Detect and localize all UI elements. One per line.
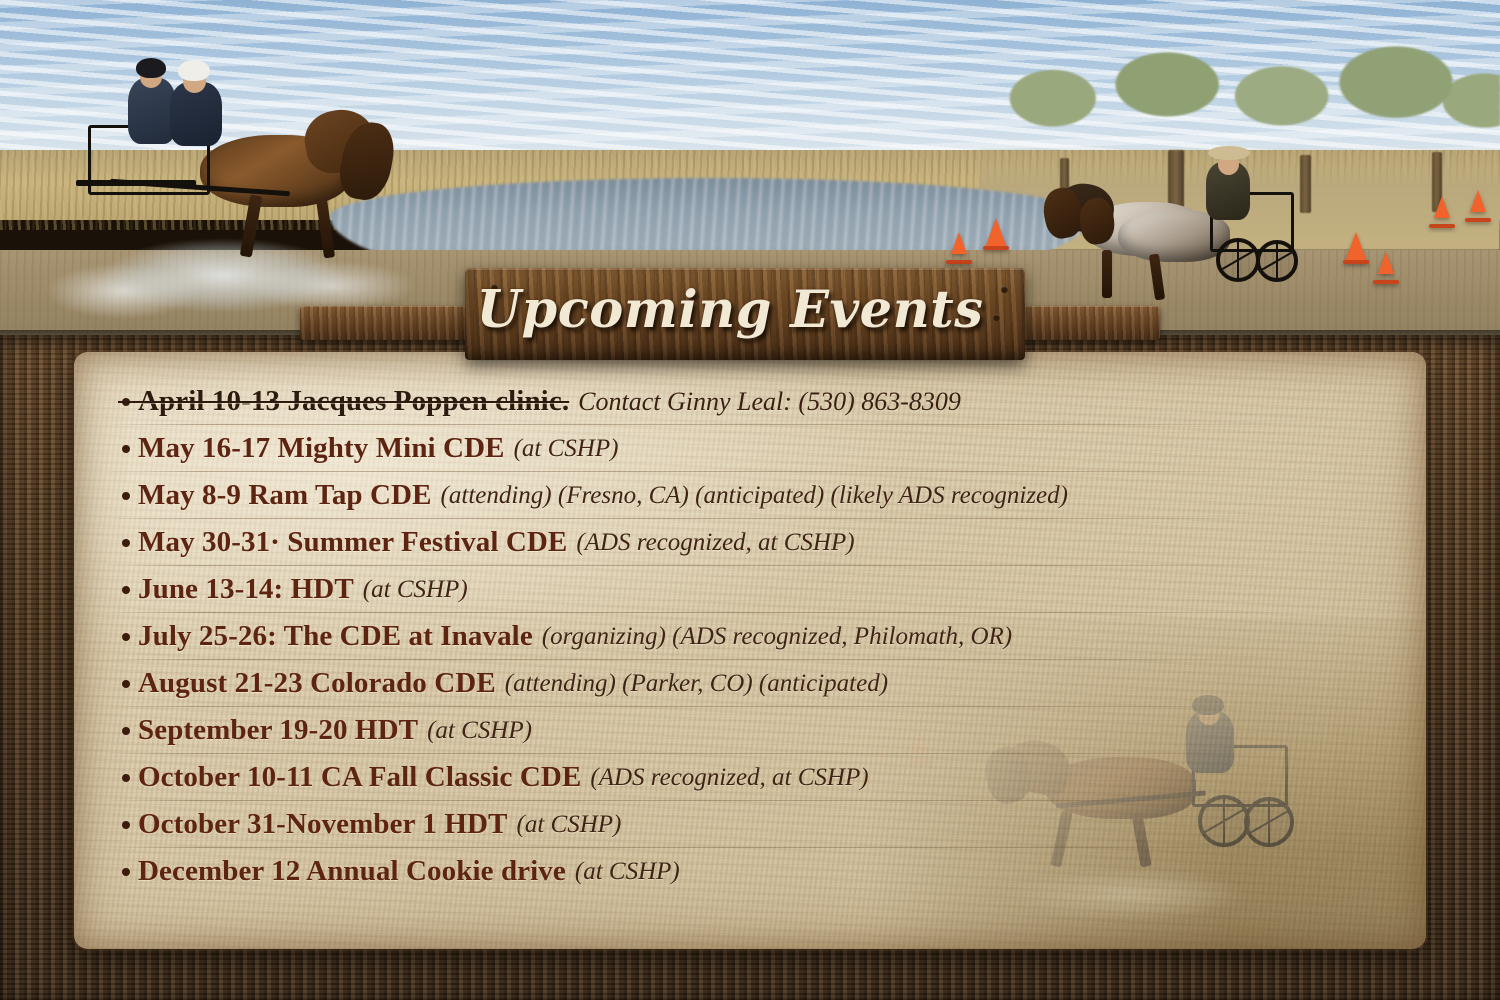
- events-list: April 10-13 Jacques Poppen clinic.Contac…: [108, 378, 1418, 895]
- riding-helmet: [136, 58, 166, 78]
- event-title: June 13-14: HDT: [138, 573, 354, 606]
- event-row: May 30-31· Summer Festival CDE(ADS recog…: [108, 519, 1418, 566]
- carriage-wheel: [1216, 238, 1260, 282]
- event-title: May 16-17 Mighty Mini CDE: [138, 432, 505, 465]
- event-title: May 8-9 Ram Tap CDE: [138, 479, 432, 512]
- strikethrough-line: [118, 401, 142, 403]
- bullet-icon: [122, 445, 130, 453]
- event-note: Contact Ginny Leal: (530) 863-8309: [578, 387, 961, 417]
- event-title: September 19-20 HDT: [138, 714, 418, 747]
- traffic-cone: [985, 218, 1007, 248]
- event-note: (at CSHP): [514, 435, 619, 463]
- event-row: December 12 Annual Cookie drive(at CSHP): [108, 848, 1418, 895]
- riding-helmet: [178, 60, 210, 81]
- bullet-icon: [122, 821, 130, 829]
- event-row: May 16-17 Mighty Mini CDE(at CSHP): [108, 425, 1418, 472]
- bullet-icon: [122, 868, 130, 876]
- event-row: May 8-9 Ram Tap CDE(attending) (Fresno, …: [108, 472, 1418, 519]
- event-note: (ADS recognized, at CSHP): [590, 764, 868, 792]
- event-note: (at CSHP): [427, 717, 532, 745]
- traffic-cone: [1378, 252, 1394, 274]
- event-title: May 30-31· Summer Festival CDE: [138, 526, 567, 559]
- carriage-axle: [76, 180, 196, 186]
- bullet-icon: [122, 586, 130, 594]
- traffic-cone: [951, 232, 967, 254]
- event-note: (organizing) (ADS recognized, Philomath,…: [542, 623, 1012, 651]
- bullet-icon: [122, 727, 130, 735]
- carriage-scene-top-left: [70, 30, 400, 280]
- bullet-icon: [122, 680, 130, 688]
- page-title: Upcoming Events: [300, 280, 1160, 340]
- event-note: (attending) (Parker, CO) (anticipated): [505, 670, 888, 698]
- event-note: (attending) (Fresno, CA) (anticipated) (…: [441, 482, 1068, 510]
- event-title: October 31-November 1 HDT: [138, 808, 508, 841]
- event-row: September 19-20 HDT(at CSHP): [108, 707, 1418, 754]
- poster: April 10-13 Jacques Poppen clinic.Contac…: [0, 0, 1500, 1000]
- traffic-cone: [1434, 196, 1450, 218]
- event-title: October 10-11 CA Fall Classic CDE: [138, 761, 581, 794]
- traffic-cone: [1345, 232, 1367, 262]
- event-title: April 10-13 Jacques Poppen clinic.: [138, 385, 569, 418]
- event-note: (at CSHP): [575, 858, 680, 886]
- bullet-icon: [122, 539, 130, 547]
- traffic-cone: [1470, 190, 1486, 212]
- event-row: October 31-November 1 HDT(at CSHP): [108, 801, 1418, 848]
- event-row: October 10-11 CA Fall Classic CDE(ADS re…: [108, 754, 1418, 801]
- event-title: August 21-23 Colorado CDE: [138, 667, 496, 700]
- event-row: April 10-13 Jacques Poppen clinic.Contac…: [108, 378, 1418, 425]
- event-row: June 13-14: HDT(at CSHP): [108, 566, 1418, 613]
- event-note: (at CSHP): [363, 576, 468, 604]
- sun-hat: [1208, 146, 1250, 160]
- event-note: (at CSHP): [517, 811, 622, 839]
- event-title: July 25-26: The CDE at Inavale: [138, 620, 533, 653]
- horse-leg: [316, 198, 335, 259]
- bullet-icon: [122, 492, 130, 500]
- event-note: (ADS recognized, at CSHP): [576, 529, 854, 557]
- carriage-wheel: [1256, 240, 1298, 282]
- event-row: July 25-26: The CDE at Inavale(organizin…: [108, 613, 1418, 660]
- event-row: August 21-23 Colorado CDE(attending) (Pa…: [108, 660, 1418, 707]
- bullet-icon: [122, 633, 130, 641]
- title-sign: Upcoming Events: [300, 268, 1160, 360]
- bullet-icon: [122, 774, 130, 782]
- event-title: December 12 Annual Cookie drive: [138, 855, 566, 888]
